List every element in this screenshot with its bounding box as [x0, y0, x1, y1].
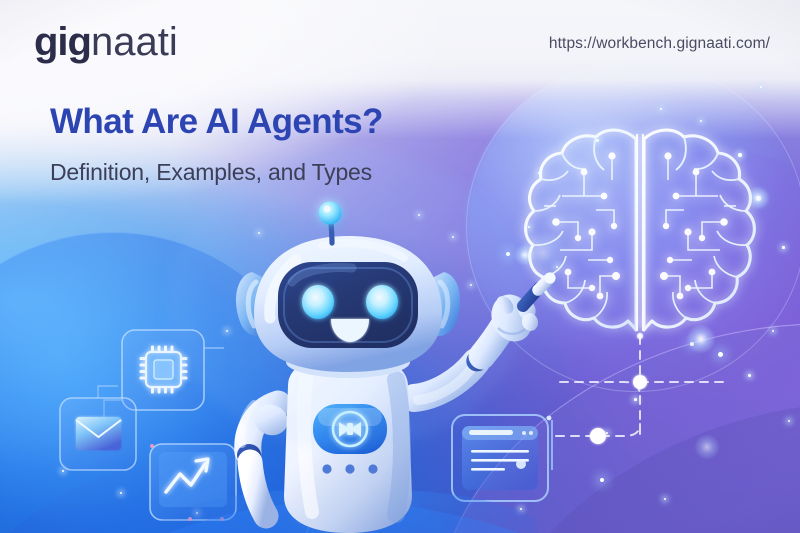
- gignaati-logo[interactable]: gignaati: [34, 22, 178, 62]
- logo-text-bold: gig: [34, 20, 91, 64]
- hero-banner: gignaati https://workbench.gignaati.com/…: [0, 0, 800, 533]
- logo-text-light: naati: [91, 20, 178, 64]
- page-title: What Are AI Agents?: [50, 103, 383, 140]
- page-subtitle: Definition, Examples, and Types: [50, 159, 372, 186]
- site-url[interactable]: https://workbench.gignaati.com/: [549, 35, 770, 53]
- vignette: [0, 0, 800, 533]
